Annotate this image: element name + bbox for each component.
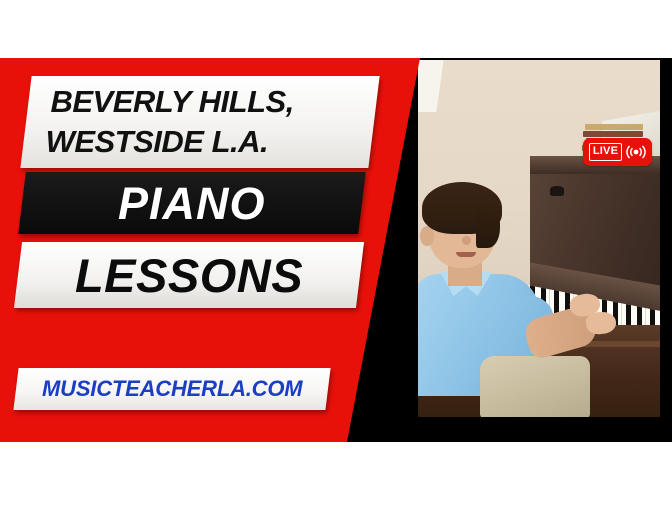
offering-word: LESSONS [75,252,303,299]
headline-line-2: WESTSIDE L.A. [46,122,269,162]
subject-band: PIANO [18,172,366,234]
live-badge-label: LIVE [589,143,622,161]
subject-word: PIANO [118,181,266,226]
headline-band: BEVERLY HILLS, WESTSIDE L.A. [20,76,379,168]
boy-nose [462,236,471,245]
screenshot-canvas: BEVERLY HILLS, WESTSIDE L.A. PIANO LESSO… [0,0,672,510]
boy-mouth [456,252,476,257]
headline-line-1: BEVERLY HILLS, [50,82,293,122]
piano-student-photo [418,60,660,417]
broadcast-wave-icon [626,144,646,160]
boy-hair [422,182,502,234]
website-band[interactable]: MUSICTEACHERLA.COM [13,368,330,410]
boy-shorts [480,356,590,417]
piano-knob [550,186,564,196]
website-url[interactable]: MUSICTEACHERLA.COM [42,378,302,400]
red-panel: BEVERLY HILLS, WESTSIDE L.A. PIANO LESSO… [0,58,420,442]
promo-graphic: BEVERLY HILLS, WESTSIDE L.A. PIANO LESSO… [0,58,672,442]
live-badge: LIVE [583,138,652,166]
offering-band: LESSONS [14,242,364,308]
